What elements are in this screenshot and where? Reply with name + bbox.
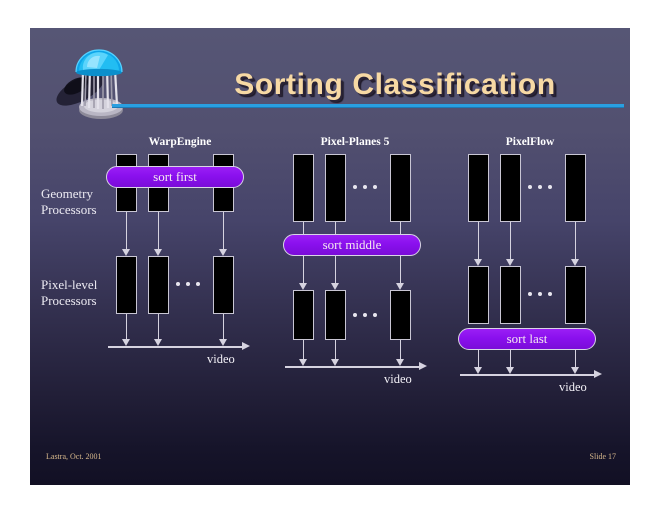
title-divider — [112, 104, 624, 107]
connector-arrow — [154, 314, 163, 346]
row-label-pixel-line2: Processors — [41, 293, 97, 309]
pixel-processor-box — [325, 290, 346, 340]
column-header-pixelflow: PixelFlow — [460, 136, 600, 148]
row-label-geometry-processors: Geometry Processors — [41, 186, 97, 218]
sort-band-sort-first: sort first — [106, 166, 244, 188]
geometry-processor-box — [500, 154, 521, 222]
video-baseline — [108, 346, 242, 348]
row-label-geometry-line2: Processors — [41, 202, 97, 218]
connector-arrow — [331, 340, 340, 366]
connector-arrow — [122, 212, 131, 256]
video-arrow-head — [242, 342, 250, 350]
pixel-processor-box — [293, 290, 314, 340]
connector-arrow — [299, 256, 308, 290]
slide-number: Slide 17 — [590, 452, 616, 461]
connector-arrow — [474, 350, 483, 374]
connector-arrow — [396, 340, 405, 366]
pixel-processor-box — [116, 256, 137, 314]
video-baseline — [285, 366, 419, 368]
video-label: video — [559, 380, 587, 395]
connector-arrow — [571, 350, 580, 374]
ellipsis-pixel — [353, 313, 377, 317]
row-label-pixel-level-processors: Pixel-level Processors — [41, 277, 97, 309]
ellipsis-pixel — [528, 292, 552, 296]
geometry-processor-box — [468, 154, 489, 222]
video-label: video — [207, 352, 235, 367]
connector-arrow — [219, 314, 228, 346]
connector-arrow — [506, 350, 515, 374]
pixel-processor-box — [390, 290, 411, 340]
pixel-processor-box — [500, 266, 521, 324]
row-label-geometry-line1: Geometry — [41, 186, 97, 202]
pixel-processor-box — [468, 266, 489, 324]
connector-arrow — [396, 256, 405, 290]
column-header-pixel-planes-5: Pixel-Planes 5 — [285, 136, 425, 148]
pixel-processor-box — [565, 266, 586, 324]
video-baseline — [460, 374, 594, 376]
sort-band-sort-middle: sort middle — [283, 234, 421, 256]
connector-arrow — [474, 222, 483, 266]
connector-arrow — [122, 314, 131, 346]
page-title: Sorting Classification — [170, 68, 620, 102]
connector-arrow — [506, 222, 515, 266]
ellipsis-pixel — [176, 282, 200, 286]
footer-attribution: Lastra, Oct. 2001 — [46, 452, 102, 461]
ellipsis-geometry — [528, 185, 552, 189]
geometry-processor-box — [325, 154, 346, 222]
geometry-processor-box — [565, 154, 586, 222]
ellipsis-geometry — [353, 185, 377, 189]
geometry-processor-box — [390, 154, 411, 222]
pixel-processor-box — [148, 256, 169, 314]
connector-arrow — [571, 222, 580, 266]
old-well-dome-logo — [52, 40, 138, 128]
connector-arrow — [331, 256, 340, 290]
video-arrow-head — [419, 362, 427, 370]
video-label: video — [384, 372, 412, 387]
slide-canvas: Sorting Classification Geometry Processo… — [30, 28, 630, 485]
connector-arrow — [154, 212, 163, 256]
video-arrow-head — [594, 370, 602, 378]
connector-arrow — [219, 212, 228, 256]
sort-band-sort-last: sort last — [458, 328, 596, 350]
column-header-warpengine: WarpEngine — [110, 136, 250, 148]
connector-arrow — [299, 340, 308, 366]
row-label-pixel-line1: Pixel-level — [41, 277, 97, 293]
pixel-processor-box — [213, 256, 234, 314]
geometry-processor-box — [293, 154, 314, 222]
